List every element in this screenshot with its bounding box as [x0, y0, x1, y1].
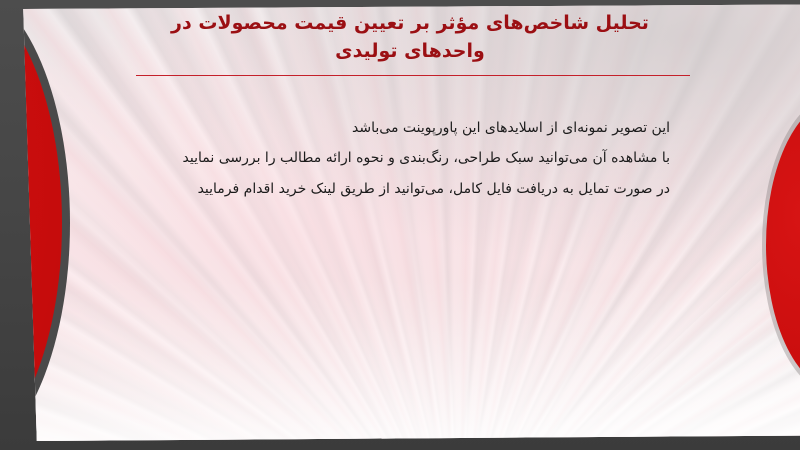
slide-content-panel: تحلیل شاخص‌های مؤثر بر تعیین قیمت محصولا… [0, 0, 800, 450]
body-line-3: در صورت تمایل به دریافت فایل کامل، می‌تو… [110, 179, 670, 200]
panel-color-tint-overlay [0, 0, 800, 450]
slide-title: تحلیل شاخص‌های مؤثر بر تعیین قیمت محصولا… [120, 10, 700, 65]
body-line-2: با مشاهده آن می‌توانید سبک طراحی، رنگ‌بن… [110, 148, 670, 169]
title-divider-line [136, 75, 690, 76]
slide-title-block: تحلیل شاخص‌های مؤثر بر تعیین قیمت محصولا… [120, 10, 700, 65]
presentation-slide: تحلیل شاخص‌های مؤثر بر تعیین قیمت محصولا… [0, 0, 800, 450]
slide-body-block: این تصویر نمونه‌ای از اسلایدهای این پاور… [110, 118, 670, 200]
body-line-1: این تصویر نمونه‌ای از اسلایدهای این پاور… [110, 118, 670, 139]
